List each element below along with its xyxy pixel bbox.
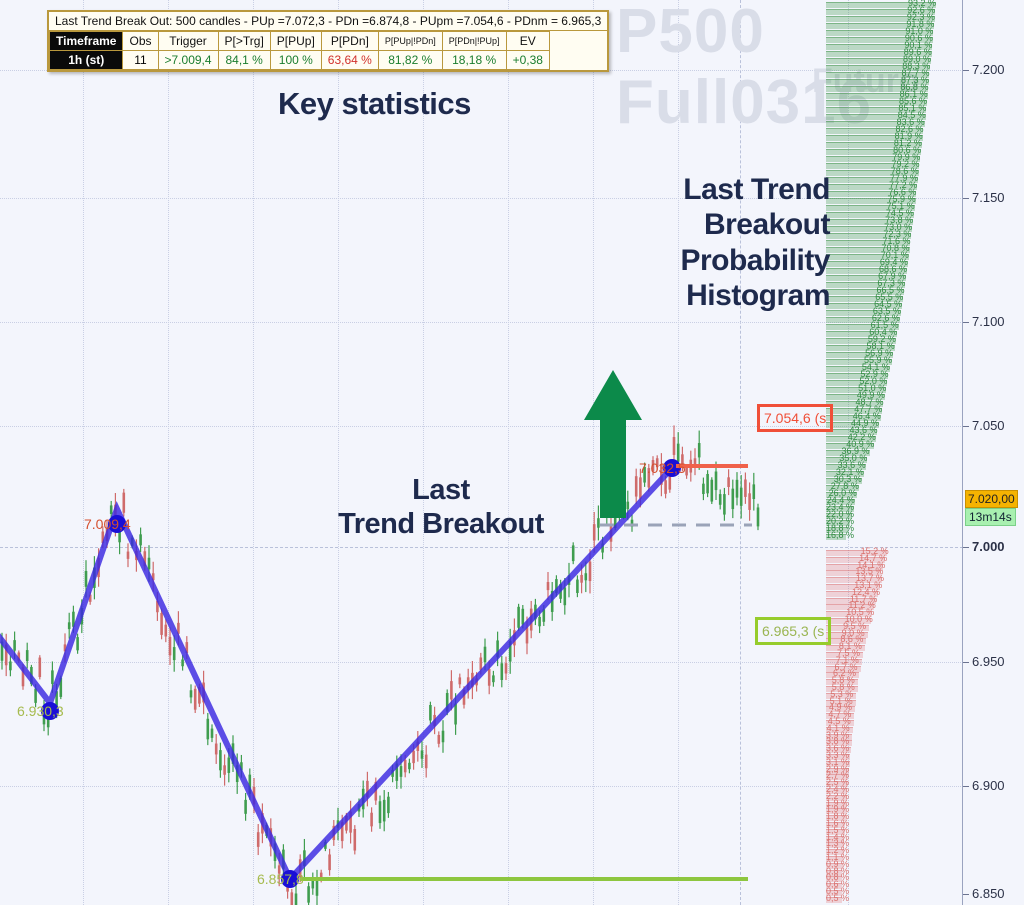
trend-point-label: 6.857,8 xyxy=(257,871,304,887)
table-header-cell: Obs xyxy=(123,32,158,51)
axis-tick: 7.000 xyxy=(963,539,1005,554)
up-arrow-shape xyxy=(584,370,642,518)
axis-tick: 7.200 xyxy=(963,62,1005,77)
trend-point-label: 7.009,4 xyxy=(84,516,131,532)
axis-tick: 7.150 xyxy=(963,190,1005,205)
axis-tick-label: 6.950 xyxy=(972,654,1005,669)
table-header-cell: EV xyxy=(506,32,549,51)
table-header-cell: P[>Trg] xyxy=(218,32,270,51)
upper-target-box[interactable]: 7.054,6 (s xyxy=(757,404,833,432)
axis-tick-label: 6.900 xyxy=(972,778,1005,793)
annotation-line: Last xyxy=(316,473,566,507)
stats-table-title: Last Trend Break Out: 500 candles - PUp … xyxy=(49,12,607,31)
price-axis[interactable]: 7.2007.1507.1007.0507.0006.9506.9006.850… xyxy=(962,0,1024,905)
axis-tick: 7.100 xyxy=(963,314,1005,329)
table-header-cell: P[PDn|!PUp] xyxy=(442,32,506,51)
table-cell: 84,1 % xyxy=(218,51,270,70)
axis-tick-label: 7.050 xyxy=(972,418,1005,433)
table-header-cell: Trigger xyxy=(158,32,218,51)
annotation-line: Probability xyxy=(630,243,830,278)
table-header-cell: P[PDn] xyxy=(321,32,378,51)
annotation-line: Last Trend xyxy=(630,172,830,207)
axis-tick: 6.850 xyxy=(963,886,1005,901)
annotation-line: Breakout xyxy=(630,207,830,242)
table-cell: 100 % xyxy=(270,51,321,70)
table-header-cell: P[PUp|!PDn] xyxy=(378,32,442,51)
table-row: 1h (st)11>7.009,484,1 %100 %63,64 %81,82… xyxy=(50,51,550,70)
table-cell: 18,18 % xyxy=(442,51,506,70)
current-price-badge[interactable]: 7.020,00 xyxy=(965,490,1018,508)
table-cell: +0,38 xyxy=(506,51,549,70)
axis-tick-label: 7.000 xyxy=(972,539,1005,554)
trend-point-label: 6.930,3 xyxy=(17,703,64,719)
axis-tick: 6.900 xyxy=(963,778,1005,793)
lower-target-box[interactable]: 6.965,3 (s xyxy=(755,617,831,645)
table-cell: 63,64 % xyxy=(321,51,378,70)
stats-table: TimeframeObsTriggerP[>Trg]P[PUp]P[PDn]P[… xyxy=(49,31,550,70)
key-statistics-table[interactable]: Last Trend Break Out: 500 candles - PUp … xyxy=(47,10,609,72)
trading-chart-screenshot: P500 Full0316 Futuro 93,2 %92,6 %92,3 %9… xyxy=(0,0,1024,905)
table-header-cell: P[PUp] xyxy=(270,32,321,51)
trend-point-label: 7.032,5 xyxy=(639,460,686,476)
axis-tick-label: 7.100 xyxy=(972,314,1005,329)
table-cell: 81,82 % xyxy=(378,51,442,70)
axis-tick-label: 7.200 xyxy=(972,62,1005,77)
table-cell: 11 xyxy=(123,51,158,70)
table-cell: 1h (st) xyxy=(50,51,123,70)
table-cell: >7.009,4 xyxy=(158,51,218,70)
annotation-key-statistics: Key statistics xyxy=(278,86,471,123)
annotation-last-trend-breakout: LastTrend Breakout xyxy=(316,473,566,541)
axis-tick-label: 7.150 xyxy=(972,190,1005,205)
axis-tick: 6.950 xyxy=(963,654,1005,669)
annotation-line: Histogram xyxy=(630,278,830,313)
annotation-histogram-title: Last TrendBreakoutProbabilityHistogram xyxy=(630,172,830,314)
axis-tick: 7.050 xyxy=(963,418,1005,433)
annotation-line: Trend Breakout xyxy=(316,507,566,541)
table-header-row: TimeframeObsTriggerP[>Trg]P[PUp]P[PDn]P[… xyxy=(50,32,550,51)
axis-tick-label: 6.850 xyxy=(972,886,1005,901)
table-header-cell: Timeframe xyxy=(50,32,123,51)
bullish-arrow-icon xyxy=(0,0,963,905)
candle-countdown-badge: 13m14s xyxy=(965,508,1016,526)
